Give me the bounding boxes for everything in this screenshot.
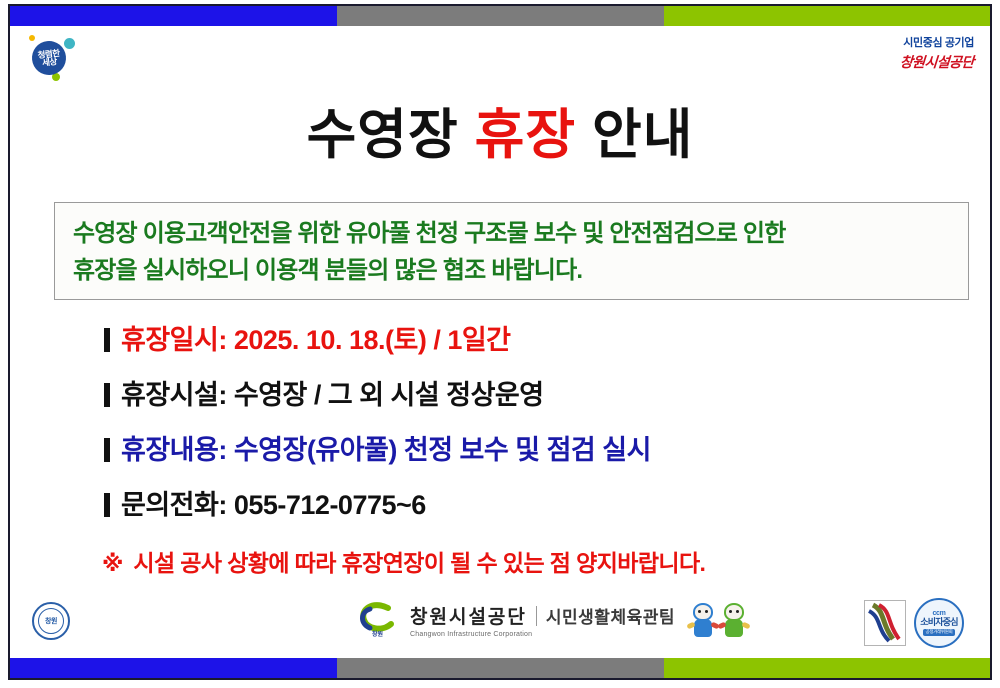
official-seal-icon: 창원 <box>32 602 70 640</box>
notice-box: 수영장 이용고객안전을 위한 유아풀 천정 구조물 보수 및 안전점검으로 인한… <box>54 202 969 300</box>
bar-segment-blue <box>10 6 337 26</box>
logo-dot-yellow <box>29 35 35 41</box>
footer-corp-name: 창원시설공단 <box>410 602 527 629</box>
bottom-color-bar <box>10 658 990 678</box>
bar-segment-gray <box>337 6 663 26</box>
asterisk-icon: ※ <box>102 551 123 577</box>
bar-segment-green <box>664 658 990 678</box>
info-row-phone: 문의전화: 055-712-0775~6 <box>104 483 964 538</box>
info-text-content: 휴장내용: 수영장(유아풀) 천정 보수 및 점검 실시 <box>121 428 651 467</box>
mascot-green-eye-right <box>736 610 739 613</box>
brand-name: 창원시설공단 <box>900 52 975 72</box>
poster-root: 청렴한 세상 시민중심 공기업 창원시설공단 수영장 휴장 안내 수영장 이용고… <box>0 0 1000 688</box>
integrity-logo-line2: 세상 <box>42 57 57 67</box>
official-seal-label: 창원 <box>38 608 64 634</box>
title-part2: 안내 <box>592 105 693 165</box>
brand-block: 시민중심 공기업 창원시설공단 <box>900 34 974 72</box>
info-row-content: 휴장내용: 수영장(유아풀) 천정 보수 및 점검 실시 <box>104 428 964 483</box>
notice-line-1: 수영장 이용고객안전을 위한 유아풀 천정 구조물 보수 및 안전점검으로 인한 <box>73 215 952 252</box>
info-text-phone: 문의전화: 055-712-0775~6 <box>121 483 426 522</box>
info-text-date: 휴장일시: 2025. 10. 18.(토) / 1일간 <box>121 318 511 357</box>
footer-brand: 창원 창원시설공단 시민생활체육관팀 Changwon Infrastructu… <box>358 602 747 638</box>
page-title: 수영장 휴장 안내 <box>10 90 990 169</box>
ribbon-certificate-icon <box>864 600 906 646</box>
mascot-blue-eye-right <box>705 610 708 613</box>
ccm-label-mid: 소비자중심 <box>920 618 957 627</box>
footer-corp-block: 창원시설공단 시민생활체육관팀 Changwon Infrastructure … <box>410 602 675 638</box>
info-text-facility: 휴장시설: 수영장 / 그 외 시설 정상운영 <box>121 373 544 412</box>
mascot-blue-icon <box>690 603 716 637</box>
top-color-bar <box>10 6 990 26</box>
mascot-blue-head <box>693 603 713 621</box>
mascot-blue-eye-left <box>698 610 701 613</box>
info-row-facility: 휴장시설: 수영장 / 그 외 시설 정상운영 <box>104 373 964 428</box>
footer-corp-line: 창원시설공단 시민생활체육관팀 <box>410 602 675 629</box>
page-frame: 청렴한 세상 시민중심 공기업 창원시설공단 수영장 휴장 안내 수영장 이용고… <box>8 4 992 680</box>
footer-corp-team: 시민생활체육관팀 <box>546 603 675 628</box>
mascot-group <box>685 603 747 637</box>
bullet-marker-icon <box>104 438 110 462</box>
notice-line-2: 휴장을 실시하오니 이용객 분들의 많은 협조 바랍니다. <box>73 252 952 289</box>
footnote-text: 시설 공사 상황에 따라 휴장연장이 될 수 있는 점 양지바랍니다. <box>133 544 705 578</box>
title-highlight: 휴장 <box>475 105 576 165</box>
bar-segment-blue <box>10 658 337 678</box>
footer-divider <box>536 606 537 626</box>
title-part1: 수영장 <box>307 105 459 165</box>
bar-segment-green <box>664 6 990 26</box>
mascot-green-eye-left <box>729 610 732 613</box>
mascot-green-icon <box>721 603 747 637</box>
logo-dot-cyan <box>64 38 75 49</box>
swirl-logo-icon: 창원 <box>358 602 402 638</box>
header: 청렴한 세상 시민중심 공기업 창원시설공단 <box>10 26 990 86</box>
integrity-logo-circle: 청렴한 세상 <box>30 39 67 76</box>
ccm-certificate-icon: ccm 소비자중심 공정거래위원회 <box>914 598 964 648</box>
mascot-green-head <box>724 603 744 621</box>
info-row-date: 휴장일시: 2025. 10. 18.(토) / 1일간 <box>104 318 964 373</box>
footer-corp-subtitle: Changwon Infrastructure Corporation <box>410 631 675 638</box>
footnote: ※ 시설 공사 상황에 따라 휴장연장이 될 수 있는 점 양지바랍니다. <box>102 544 705 578</box>
bullet-marker-icon <box>104 328 110 352</box>
footer: 창원 창원 창원시설공단 시민생활체육관팀 Changwo <box>10 590 990 658</box>
mascot-blue-body <box>694 619 712 637</box>
bullet-marker-icon <box>104 383 110 407</box>
ccm-label-bottom: 공정거래위원회 <box>923 629 956 636</box>
integrity-logo-icon: 청렴한 세상 <box>24 32 82 82</box>
mascot-green-body <box>725 619 743 637</box>
bar-segment-gray <box>337 658 663 678</box>
svg-text:창원: 창원 <box>372 630 383 638</box>
info-list: 휴장일시: 2025. 10. 18.(토) / 1일간 휴장시설: 수영장 /… <box>104 318 964 538</box>
bullet-marker-icon <box>104 493 110 517</box>
brand-tagline: 시민중심 공기업 <box>900 34 974 50</box>
certification-marks: ccm 소비자중심 공정거래위원회 <box>864 598 964 648</box>
